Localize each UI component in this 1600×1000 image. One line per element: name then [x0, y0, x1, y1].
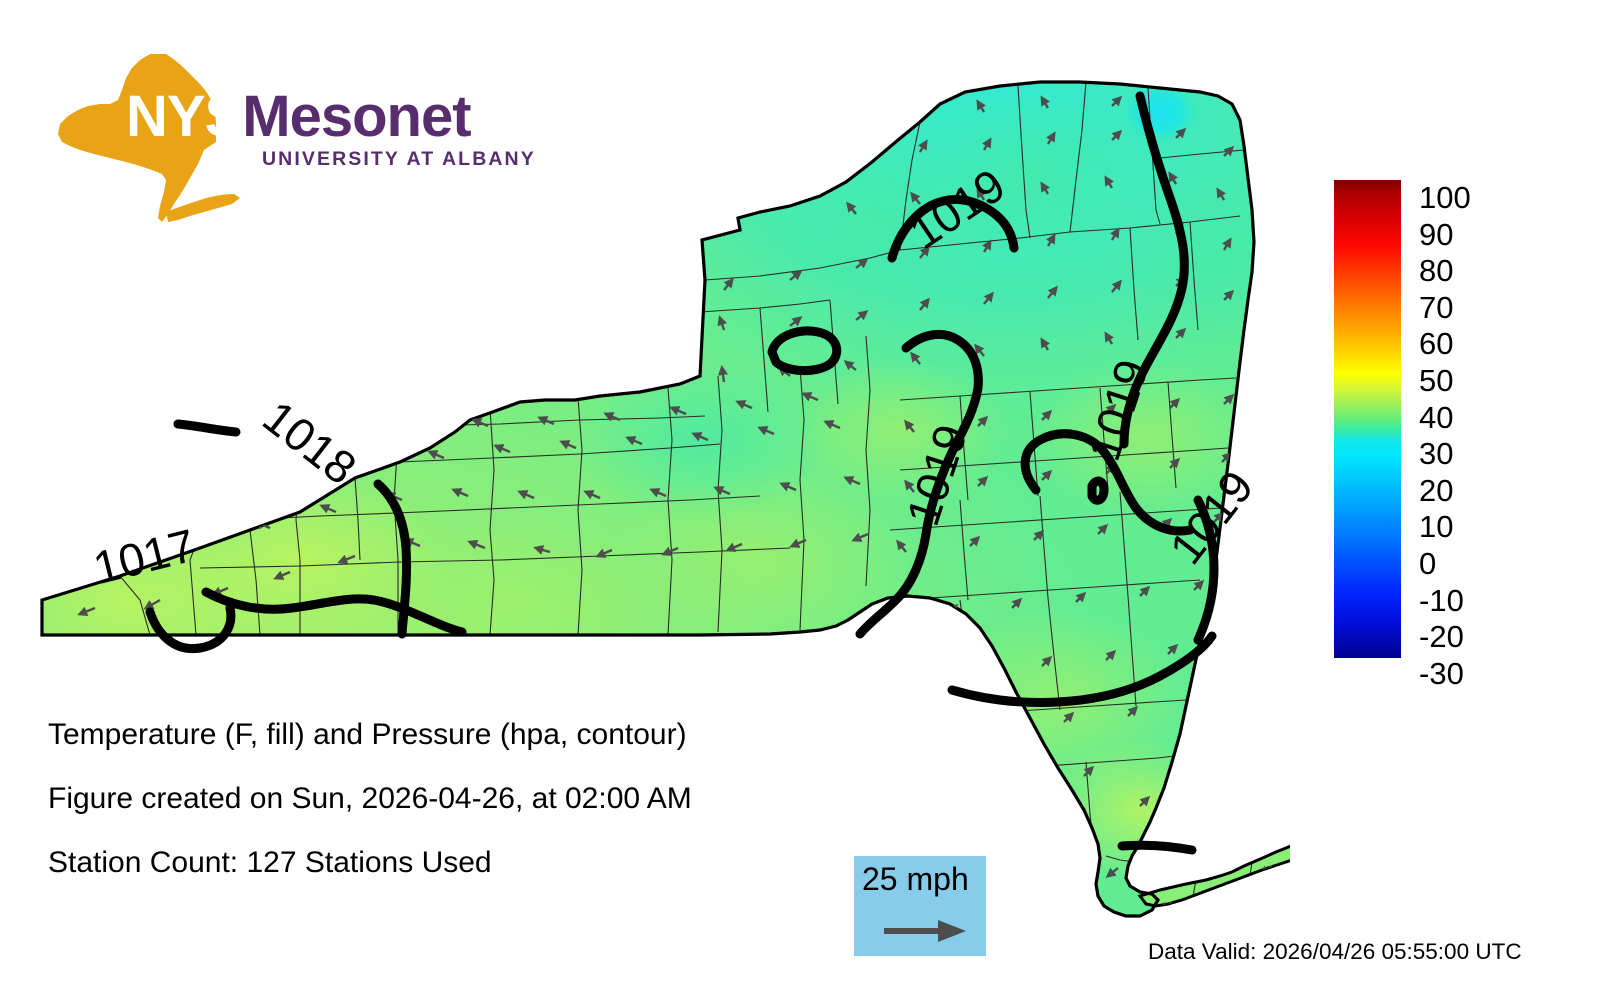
colorbar-tick-label: 90 [1419, 219, 1453, 250]
colorbar-tick-label: 100 [1419, 182, 1471, 213]
colorbar-tick-label: 40 [1419, 402, 1453, 433]
logo-wordmark-line: NYSMesonet [126, 88, 456, 146]
temperature-colorbar: 1009080706050403020100-10-20-30 [1334, 180, 1574, 665]
logo-subtitle: UNIVERSITY AT ALBANY [262, 148, 456, 171]
caption-title: Temperature (F, fill) and Pressure (hpa,… [48, 720, 808, 750]
pressure-contour-1018-west [178, 424, 236, 432]
logo-nys-text: NYS [126, 84, 242, 149]
caption-station-count: Station Count: 127 Stations Used [48, 848, 808, 878]
colorbar-tick-label: -10 [1419, 585, 1464, 616]
wind-speed-legend: 25 mph [854, 856, 986, 956]
colorbar-tick-label: 30 [1419, 438, 1453, 469]
pressure-contour-sound [1122, 845, 1192, 850]
wind-arrow-icon [882, 918, 968, 944]
colorbar-tick-label: 10 [1419, 511, 1453, 542]
colorbar-tick-label: 0 [1419, 548, 1436, 579]
colorbar-gradient [1334, 180, 1401, 658]
colorbar-tick-label: 20 [1419, 475, 1453, 506]
map-caption: Temperature (F, fill) and Pressure (hpa,… [48, 720, 808, 912]
colorbar-tick-label: 80 [1419, 255, 1453, 286]
colorbar-tick-label: -30 [1419, 658, 1464, 689]
colorbar-tick-label: -20 [1419, 621, 1464, 652]
colorbar-tick-label: 50 [1419, 365, 1453, 396]
logo-wordmark: NYSMesonet UNIVERSITY AT ALBANY [126, 88, 456, 171]
colorbar-tick-label: 70 [1419, 292, 1453, 323]
logo-mesonet-text: Mesonet [242, 84, 470, 149]
wind-legend-label: 25 mph [862, 862, 969, 896]
colorbar-tick-label: 60 [1419, 328, 1453, 359]
pressure-contour-label: 1018 [254, 390, 367, 494]
data-valid-timestamp: Data Valid: 2026/04/26 05:55:00 UTC [1148, 940, 1522, 964]
caption-created: Figure created on Sun, 2026-04-26, at 02… [48, 784, 808, 814]
nys-mesonet-logo: NYSMesonet UNIVERSITY AT ALBANY [48, 46, 448, 226]
